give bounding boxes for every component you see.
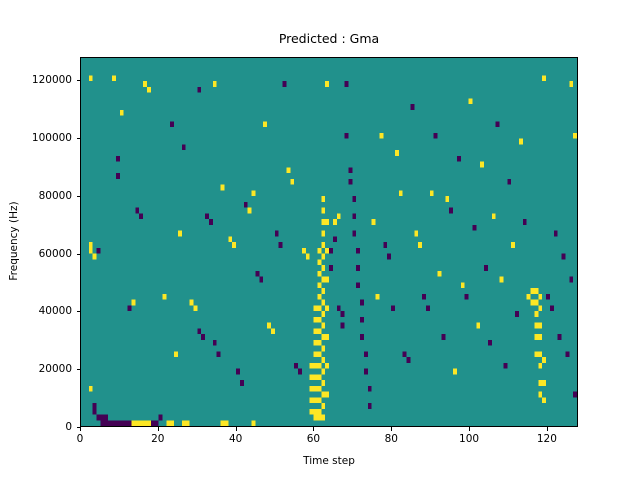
x-axis-label: Time step — [80, 455, 578, 467]
x-tick-mark — [80, 427, 81, 431]
x-tick-label: 120 — [537, 433, 557, 445]
page-title: Predicted : Gma — [80, 31, 578, 47]
y-tick-mark — [77, 138, 81, 139]
x-tick-label: 80 — [385, 433, 398, 445]
matplotlib-figure: Predicted : Gma 020406080100120020000400… — [0, 0, 640, 480]
x-tick-label: 100 — [459, 433, 479, 445]
x-tick-mark — [236, 427, 237, 431]
y-tick-mark — [77, 427, 81, 428]
y-tick-mark — [77, 369, 81, 370]
y-tick-mark — [77, 80, 81, 81]
x-tick-label: 40 — [229, 433, 242, 445]
x-tick-label: 0 — [77, 433, 84, 445]
y-tick-mark — [77, 196, 81, 197]
x-tick-mark — [158, 427, 159, 431]
y-tick-mark — [77, 311, 81, 312]
spectrogram-heatmap — [81, 58, 577, 426]
x-tick-mark — [391, 427, 392, 431]
x-tick-label: 60 — [307, 433, 320, 445]
y-tick-mark — [77, 254, 81, 255]
x-tick-mark — [547, 427, 548, 431]
x-tick-mark — [469, 427, 470, 431]
x-tick-mark — [313, 427, 314, 431]
x-tick-label: 20 — [151, 433, 164, 445]
y-tick-label: 120000 — [2, 74, 72, 86]
y-tick-label: 20000 — [2, 363, 72, 375]
y-tick-label: 0 — [2, 421, 72, 433]
y-axis-label: Frequency (Hz) — [8, 141, 20, 341]
heatmap-axes — [80, 57, 578, 427]
